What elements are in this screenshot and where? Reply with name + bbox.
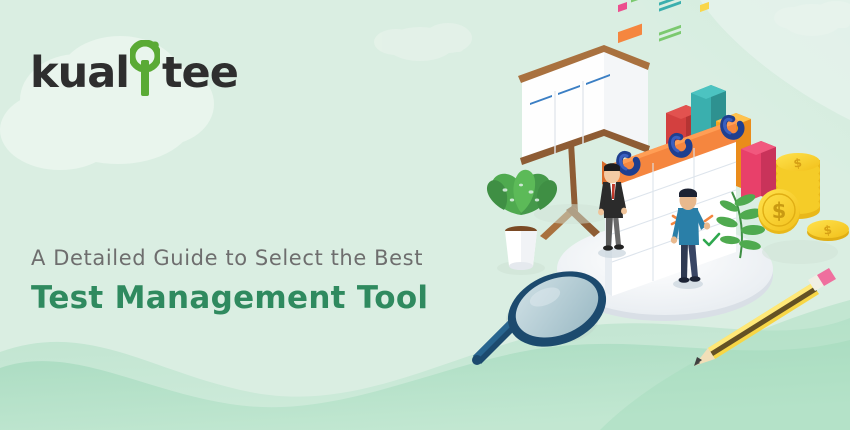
- kanban-easel-board: [0, 0, 650, 240]
- monstera-plant: [487, 170, 557, 275]
- logo[interactable]: kual tee: [30, 40, 238, 95]
- banner-root: kual tee A Detailed Guide to Select the …: [0, 0, 850, 430]
- headline-title: Test Management Tool: [31, 279, 428, 318]
- coin-front: $: [758, 189, 800, 234]
- kualitee-sprout-mark-icon: [130, 40, 160, 98]
- logo-text-after: tee: [162, 52, 238, 95]
- coin-flat: $: [807, 220, 849, 241]
- headline-subtitle: A Detailed Guide to Select the Best: [31, 246, 428, 271]
- svg-text:$: $: [772, 199, 787, 223]
- logo-text-before: kual: [30, 52, 129, 95]
- headline-block: A Detailed Guide to Select the Best Test…: [31, 246, 428, 318]
